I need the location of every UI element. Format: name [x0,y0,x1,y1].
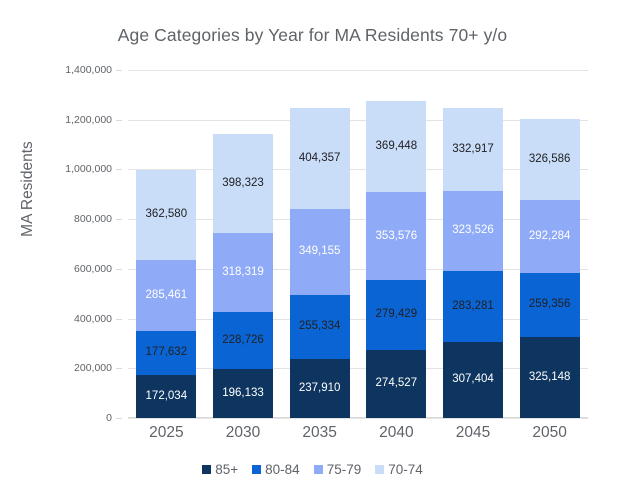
bar-segment-value-label: 332,917 [452,144,494,156]
bar-stack-2030[interactable]: 398,323318,319228,726196,133 [213,134,273,418]
bar-segment-70-74[interactable]: 369,448 [366,101,426,193]
legend-label: 70-74 [388,462,423,477]
x-tick-label-2035: 2035 [281,424,358,442]
bar-segment-80-84[interactable]: 228,726 [213,312,273,369]
bar-segment-value-label: 283,281 [452,301,494,313]
bar-segment-value-label: 404,357 [299,153,341,165]
bar-segment-value-label: 353,576 [376,231,418,243]
bar-stack-2045[interactable]: 332,917323,526283,281307,404 [443,108,503,418]
bar-segment-value-label: 292,284 [529,231,571,243]
y-tick-label: 1,200,000 [65,114,112,126]
bar-segment-value-label: 279,429 [376,309,418,321]
stacked-bar-chart: Age Categories by Year for MA Residents … [0,0,625,500]
bar-segment-70-74[interactable]: 332,917 [443,108,503,191]
bar-segment-70-74[interactable]: 404,357 [290,108,350,209]
bar-segment-value-label: 177,632 [146,347,188,359]
bar-segment-85plus[interactable]: 325,148 [520,337,580,418]
legend-swatch-icon [314,465,323,474]
bar-segment-85plus[interactable]: 172,034 [136,375,196,418]
x-tick-label-2050: 2050 [511,424,588,442]
bar-segment-80-84[interactable]: 255,334 [290,295,350,358]
bar-segment-value-label: 255,334 [299,321,341,333]
plot-area: 362,580285,461177,632172,034398,323318,3… [128,70,588,418]
bar-segment-85plus[interactable]: 307,404 [443,342,503,418]
bar-segment-value-label: 259,356 [529,299,571,311]
bar-segment-value-label: 323,526 [452,225,494,237]
bar-segment-80-84[interactable]: 177,632 [136,331,196,375]
chart-title: Age Categories by Year for MA Residents … [0,25,625,46]
chart-legend: 85+80-8475-7970-74 [0,462,625,477]
y-tick-mark [116,269,122,270]
bar-segment-value-label: 369,448 [376,141,418,153]
legend-swatch-icon [202,465,211,474]
y-tick-mark [116,169,122,170]
bar-segment-70-74[interactable]: 326,586 [520,119,580,200]
bar-segment-75-79[interactable]: 285,461 [136,260,196,331]
bar-segment-value-label: 285,461 [146,290,188,302]
y-tick-label: 800,000 [74,213,112,225]
bar-segment-85plus[interactable]: 237,910 [290,359,350,418]
bar-stack-2035[interactable]: 404,357349,155255,334237,910 [290,108,350,418]
y-tick-mark [116,418,122,419]
bar-segment-value-label: 349,155 [299,246,341,258]
y-tick-mark [116,368,122,369]
legend-swatch-icon [252,465,261,474]
bar-segment-75-79[interactable]: 349,155 [290,209,350,296]
legend-label: 80-84 [265,462,300,477]
y-tick-mark [116,319,122,320]
legend-item-75-79[interactable]: 75-79 [314,462,362,477]
bar-segment-value-label: 398,323 [222,178,264,190]
bar-stack-2040[interactable]: 369,448353,576279,429274,527 [366,101,426,418]
x-tick-label-2040: 2040 [358,424,435,442]
y-tick-mark [116,70,122,71]
bar-segment-value-label: 274,527 [376,378,418,390]
bar-segment-value-label: 228,726 [222,335,264,347]
bar-segment-value-label: 237,910 [299,383,341,395]
y-tick-label: 1,000,000 [65,163,112,175]
bar-segment-70-74[interactable]: 398,323 [213,134,273,233]
y-tick-label: 0 [106,412,112,424]
bar-segment-85plus[interactable]: 274,527 [366,350,426,418]
bar-segment-75-79[interactable]: 323,526 [443,191,503,271]
y-tick-label: 400,000 [74,313,112,325]
y-tick-label: 1,400,000 [65,64,112,76]
x-tick-label-2030: 2030 [205,424,282,442]
bar-segment-value-label: 326,586 [529,154,571,166]
bar-segment-value-label: 362,580 [146,209,188,221]
bar-stack-2025[interactable]: 362,580285,461177,632172,034 [136,170,196,418]
bar-segment-value-label: 318,319 [222,267,264,279]
legend-item-85plus[interactable]: 85+ [202,462,238,477]
bar-stack-2050[interactable]: 326,586292,284259,356325,148 [520,119,580,418]
gridline [128,70,588,71]
y-tick-label: 200,000 [74,362,112,374]
bar-segment-75-79[interactable]: 318,319 [213,233,273,312]
bar-segment-70-74[interactable]: 362,580 [136,170,196,260]
y-axis: 0200,000400,000600,000800,0001,000,0001,… [0,70,122,418]
bar-segment-80-84[interactable]: 259,356 [520,273,580,337]
legend-item-70-74[interactable]: 70-74 [375,462,423,477]
bar-segment-value-label: 172,034 [146,391,188,403]
x-tick-label-2045: 2045 [435,424,512,442]
bar-segment-85plus[interactable]: 196,133 [213,369,273,418]
legend-label: 75-79 [327,462,362,477]
y-tick-mark [116,219,122,220]
y-tick-label: 600,000 [74,263,112,275]
bar-segment-value-label: 307,404 [452,374,494,386]
x-axis: 202520302035204020452050 [128,424,588,450]
gridline [128,418,588,419]
bar-segment-75-79[interactable]: 353,576 [366,192,426,280]
bar-segment-80-84[interactable]: 283,281 [443,271,503,341]
y-tick-mark [116,120,122,121]
x-tick-label-2025: 2025 [128,424,205,442]
bar-segment-value-label: 325,148 [529,372,571,384]
legend-label: 85+ [215,462,238,477]
legend-item-80-84[interactable]: 80-84 [252,462,300,477]
bar-segment-value-label: 196,133 [222,388,264,400]
legend-swatch-icon [375,465,384,474]
bar-segment-75-79[interactable]: 292,284 [520,200,580,273]
bar-segment-80-84[interactable]: 279,429 [366,280,426,349]
